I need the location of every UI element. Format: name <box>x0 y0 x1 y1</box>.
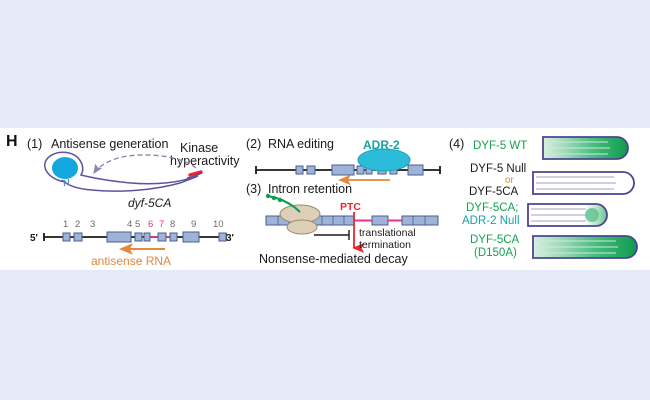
exon-number: 5 <box>135 219 140 230</box>
step1-number: (1) <box>27 137 42 151</box>
step4-row-label: DYF-5CA <box>469 186 519 198</box>
step4-row-label: DYF-5 WT <box>473 140 527 152</box>
cilium-dyf5-null-or-ca <box>533 172 634 194</box>
five-prime-label: 5' <box>30 233 38 244</box>
exon-box <box>332 165 354 175</box>
translational-termination-line1: translational <box>359 227 416 239</box>
exon-box <box>135 233 142 241</box>
ptc-label: PTC <box>340 201 361 213</box>
gene-model: 5' 3' 1 2 3 4 5 6 7 8 <box>30 219 234 268</box>
exon-box <box>296 166 303 174</box>
step2-transcript <box>256 149 440 180</box>
exon-number: 4 <box>127 219 132 230</box>
ribosome-small-subunit <box>287 220 317 234</box>
three-prime-label: 3' <box>226 233 234 244</box>
step2-title: RNA editing <box>268 137 334 151</box>
step4-row-or-label: or <box>505 175 515 186</box>
gene-name: dyf-5CA <box>128 196 171 210</box>
figure-svg: H (1) Antisense generation Kinase hypera… <box>0 128 650 270</box>
antisense-label: antisense RNA <box>91 254 171 268</box>
step3-title: Intron retention <box>268 182 352 196</box>
exon-box <box>63 233 70 241</box>
step3-group: (3) Intron retention PTC <box>246 182 438 266</box>
step3-number: (3) <box>246 182 261 196</box>
step2-group: (2) RNA editing ADR-2 <box>246 137 440 180</box>
step2-number: (2) <box>246 137 261 151</box>
exon-box <box>170 233 177 241</box>
exon-number: 1 <box>63 219 68 230</box>
exon-number: 10 <box>213 219 224 230</box>
cilium-dyf5ca-adr2-null <box>528 204 607 226</box>
step4-row-label: DYF-5CA; <box>466 202 518 214</box>
exon-box <box>74 233 82 241</box>
cilium-dyf5-wt <box>543 137 628 159</box>
exon-box <box>144 233 150 241</box>
exon-box <box>107 232 131 242</box>
kinase-label-line2: hyperactivity <box>170 154 240 168</box>
exon-number: 3 <box>90 219 95 230</box>
exon-box <box>183 232 199 242</box>
step4-row-label: DYF-5 Null <box>470 163 526 175</box>
step4-number: (4) <box>449 137 464 151</box>
cilium-dyf5ca-d150a <box>533 236 637 258</box>
nmd-label: Nonsense-mediated decay <box>259 252 408 266</box>
exon-number: 7 <box>159 219 164 230</box>
adr2-enzyme <box>358 149 410 171</box>
translational-termination-line2: termination <box>359 239 411 251</box>
exon-number: 6 <box>148 219 153 230</box>
step4-row-label: (D150A) <box>474 247 517 259</box>
step4-row-label: ADR-2 Null <box>462 215 520 227</box>
exon-box <box>408 165 423 175</box>
exon-box <box>158 233 166 241</box>
figure-panel: H (1) Antisense generation Kinase hypera… <box>0 128 650 270</box>
step1-group: (1) Antisense generation Kinase hyperact… <box>27 137 240 268</box>
panel-letter: H <box>6 133 18 150</box>
step1-title: Antisense generation <box>51 137 168 151</box>
step4-group: (4) DYF-5 WT DYF-5 Null or DYF-5CA DYF-5… <box>449 137 637 259</box>
kinase-label-line1: Kinase <box>180 141 218 155</box>
nucleus <box>52 157 78 179</box>
exon-box <box>357 166 364 174</box>
step4-row-label: DYF-5CA <box>470 234 520 246</box>
exon-number: 9 <box>191 219 196 230</box>
exon-box <box>307 166 315 174</box>
exon-box <box>219 233 226 241</box>
exon-number: 8 <box>170 219 175 230</box>
exon-number: 2 <box>75 219 80 230</box>
